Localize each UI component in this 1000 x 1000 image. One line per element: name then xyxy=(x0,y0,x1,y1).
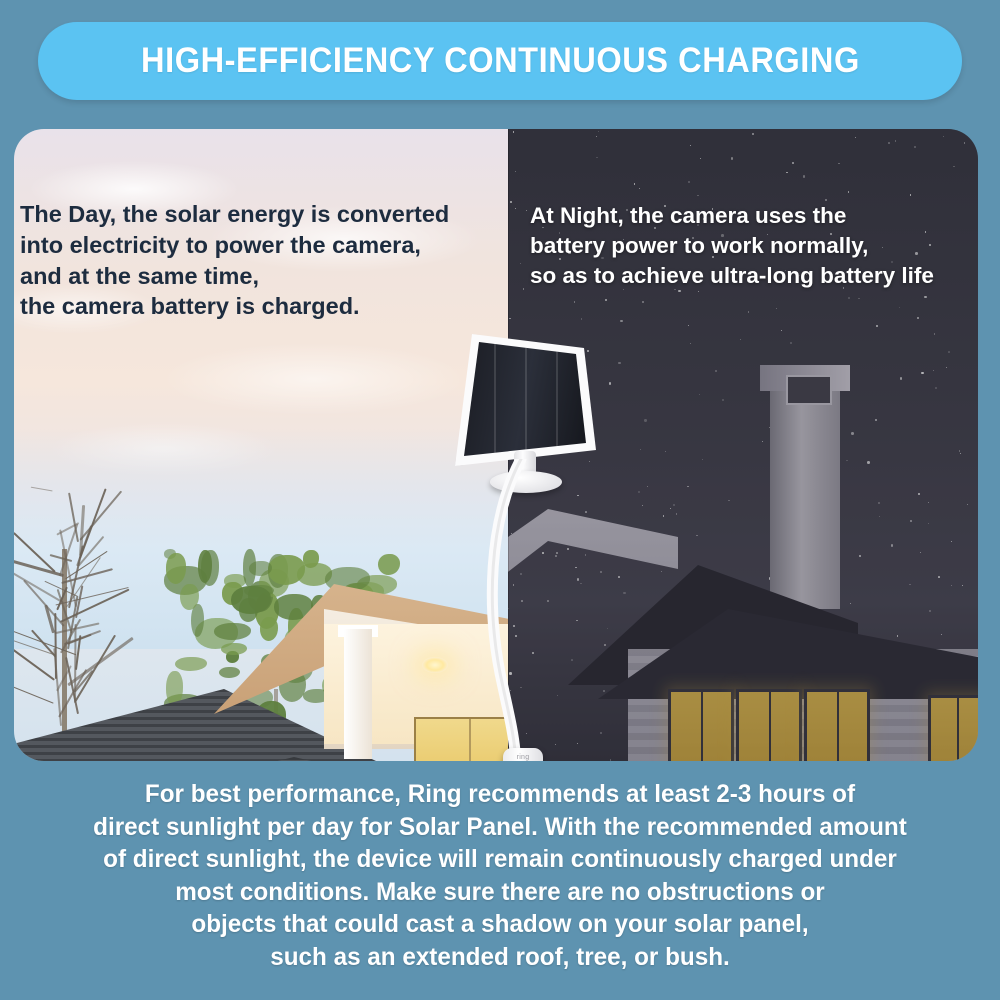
night-description: At Night, the camera uses the battery po… xyxy=(530,201,978,291)
lit-window xyxy=(736,689,802,761)
footer-line: of direct sunlight, the device will rema… xyxy=(15,843,985,876)
french-door xyxy=(414,717,508,761)
day-line: The Day, the solar energy is converted xyxy=(20,199,490,230)
header-banner: HIGH-EFFICIENCY CONTINUOUS CHARGING xyxy=(38,22,962,100)
night-line: At Night, the camera uses the xyxy=(530,201,978,231)
page-title: HIGH-EFFICIENCY CONTINUOUS CHARGING xyxy=(141,41,860,81)
infographic-stage: HIGH-EFFICIENCY CONTINUOUS CHARGING xyxy=(0,0,1000,1000)
chimney-vent xyxy=(786,375,832,405)
footer-line: objects that could cast a shadow on your… xyxy=(15,908,985,941)
chimney xyxy=(770,379,840,609)
footer-caption: For best performance, Ring recommends at… xyxy=(0,778,1000,973)
porch-column xyxy=(344,629,372,759)
day-description: The Day, the solar energy is converted i… xyxy=(20,199,490,322)
day-line: the camera battery is charged. xyxy=(20,291,490,322)
lit-window xyxy=(804,689,870,761)
day-line: and at the same time, xyxy=(20,261,490,292)
porch-downlight xyxy=(422,657,448,673)
night-line: battery power to work normally, xyxy=(530,231,978,261)
footer-line: direct sunlight per day for Solar Panel.… xyxy=(15,811,985,844)
day-line: into electricity to power the camera, xyxy=(20,230,490,261)
night-line: so as to achieve ultra-long battery life xyxy=(530,261,978,291)
comparison-photo: ring The Day, the solar energy is conver… xyxy=(14,129,978,761)
lit-window xyxy=(928,695,978,761)
lit-window xyxy=(668,689,734,761)
footer-line: For best performance, Ring recommends at… xyxy=(15,778,985,811)
day-night-divider xyxy=(508,129,509,761)
footer-line: such as an extended roof, tree, or bush. xyxy=(15,941,985,974)
footer-line: most conditions. Make sure there are no … xyxy=(15,876,985,909)
